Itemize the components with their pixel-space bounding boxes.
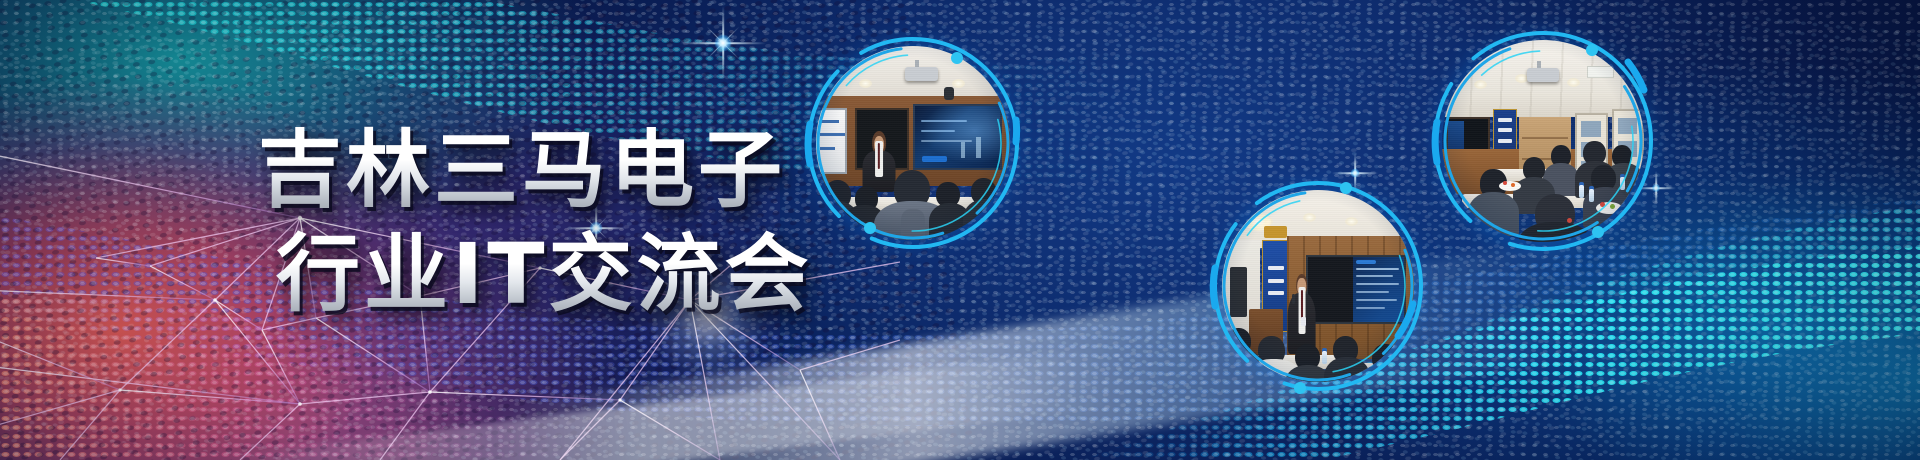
photo-circle-3-ring-decoration <box>1208 176 1428 396</box>
photo-circle-roundtable-audience[interactable] <box>1428 26 1658 256</box>
photo-circle-speaker-microphone[interactable] <box>1208 176 1428 396</box>
photo-circle-1-ring-decoration <box>802 32 1024 254</box>
banner-root: 吉林三马电子 行业IT交流会 <box>0 0 1920 460</box>
photo-circle-2-ring-decoration <box>1428 26 1658 256</box>
photo-circle-lecture-presenter[interactable] <box>802 32 1024 254</box>
polygon-constellation-mesh <box>0 0 900 460</box>
